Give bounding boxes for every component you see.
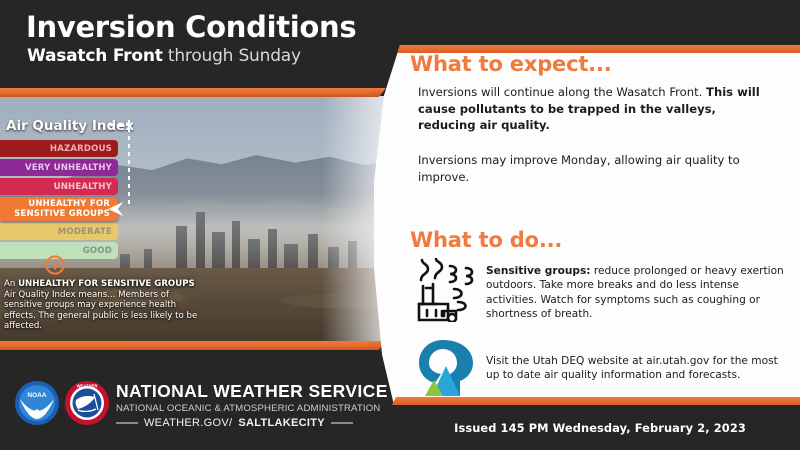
header-orange-stripe — [0, 88, 372, 97]
factory-smokestack-icon — [414, 258, 480, 322]
utah-deq-logo-icon — [416, 338, 474, 398]
aqi-note-category: UNHEALTHY FOR SENSITIVE GROUPS — [18, 279, 195, 289]
rule-left — [116, 422, 138, 424]
noaa-logo-icon: NOAA — [14, 380, 60, 426]
svg-text:NOAA: NOAA — [27, 392, 46, 399]
footer-orange-stripe — [0, 341, 372, 350]
aqi-heading: Air Quality Index — [6, 118, 134, 134]
aqi-band-moderate: MODERATE — [0, 223, 118, 240]
what-to-do-heading: What to do... — [410, 228, 562, 252]
aqi-description: An UNHEALTHY FOR SENSITIVE GROUPS Air Qu… — [4, 279, 209, 332]
nws-website: WEATHER.GOV/SALTLAKECITY — [116, 417, 388, 429]
aqi-band-hazardous: HAZARDOUS — [0, 140, 118, 157]
page-title: Inversion Conditions — [26, 10, 356, 44]
panel-bottom-border — [352, 397, 800, 405]
nws-branding-footer: NOAA WEATHER NATIONAL WEATHER SERVICE NA… — [0, 350, 400, 450]
sensitive-groups-label: Sensitive groups: — [486, 265, 591, 277]
issued-footer: Issued 145 PM Wednesday, February 2, 202… — [400, 405, 800, 450]
nws-title: NATIONAL WEATHER SERVICE — [116, 381, 388, 402]
utah-deq-advice: Visit the Utah DEQ website at air.utah.g… — [486, 354, 786, 383]
aqi-band-unhealthy-for-sensitive-groups: UNHEALTHY FORSENSITIVE GROUPS — [0, 197, 118, 221]
subtitle-period: through Sunday — [163, 46, 301, 66]
nws-text-block: NATIONAL WEATHER SERVICE NATIONAL OCEANI… — [116, 381, 388, 429]
aqi-note-body: Air Quality Index means... Members of se… — [4, 290, 197, 332]
sensitive-groups-advice: Sensitive groups: reduce prolonged or he… — [486, 264, 786, 322]
aqi-dotted-line-vertical — [128, 120, 130, 206]
subtitle-region: Wasatch Front — [27, 46, 163, 66]
aqi-band-unhealthy: UNHEALTHY — [0, 178, 118, 195]
expect-plain-text: Inversions will continue along the Wasat… — [418, 85, 706, 99]
national-weather-service-seal-icon: WEATHER — [64, 380, 110, 426]
aqi-note-prefix: An — [4, 279, 18, 289]
arrow-left-icon — [108, 202, 124, 216]
photo-credit: Photo credit: Chris Young — [693, 246, 754, 252]
aqi-band-label-line1: UNHEALTHY FOR — [28, 199, 110, 209]
what-to-expect-paragraph-1: Inversions will continue along the Wasat… — [418, 84, 776, 134]
nws-url-office: SALTLAKECITY — [238, 417, 325, 429]
info-circle-icon — [45, 255, 65, 275]
aqi-band-list: HAZARDOUSVERY UNHEALTHYUNHEALTHYUNHEALTH… — [0, 140, 118, 261]
nws-url-prefix: WEATHER.GOV/ — [144, 417, 232, 429]
rule-right — [331, 422, 353, 424]
svg-text:WEATHER: WEATHER — [77, 383, 98, 388]
aqi-band-label-line2: SENSITIVE GROUPS — [14, 209, 110, 219]
page-subtitle: Wasatch Front through Sunday — [27, 46, 301, 66]
issued-timestamp: Issued 145 PM Wednesday, February 2, 202… — [454, 421, 746, 435]
noaa-subtitle: NATIONAL OCEANIC & ATMOSPHERIC ADMINISTR… — [116, 403, 388, 414]
what-to-expect-paragraph-2: Inversions may improve Monday, allowing … — [418, 152, 776, 185]
aqi-band-very-unhealthy: VERY UNHEALTHY — [0, 159, 118, 176]
what-to-expect-heading: What to expect... — [410, 52, 612, 76]
inversion-conditions-graphic: Photo credit: Chris Young Inversion Cond… — [0, 0, 800, 450]
